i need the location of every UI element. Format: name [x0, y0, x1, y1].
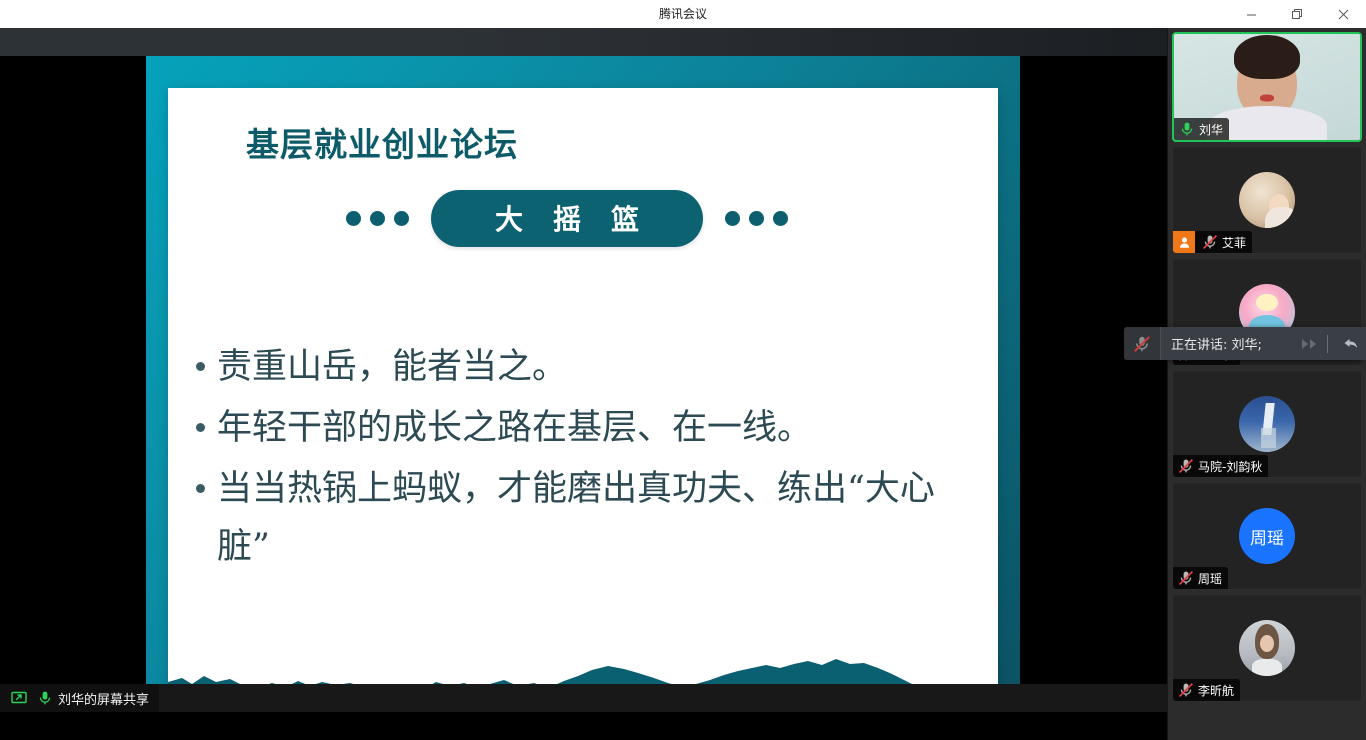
- list-item: 当当热锅上蚂蚁，才能磨出真功夫、练出“大心脏”: [196, 460, 976, 578]
- slide-heading-row: 大摇篮: [346, 188, 788, 248]
- close-button[interactable]: [1320, 0, 1366, 28]
- list-item: 责重山岳，能者当之。: [196, 338, 976, 397]
- avatar-initials: 周瑶: [1239, 508, 1295, 564]
- participant-tile-liuhua[interactable]: 刘华: [1172, 32, 1362, 142]
- mic-muted-icon: [1202, 234, 1218, 250]
- collapse-button[interactable]: [1299, 335, 1327, 353]
- participant-tile-lixinhang[interactable]: 李昕航: [1172, 594, 1362, 702]
- nameplate: 马院-刘韵秋: [1173, 455, 1268, 477]
- share-taskbar: 刘华的屏幕共享: [0, 684, 1168, 712]
- back-arrow-icon: [1342, 336, 1360, 352]
- shared-screen-stage[interactable]: 基层就业创业论坛 大摇篮: [0, 56, 1168, 712]
- slide-bullet-list: 责重山岳，能者当之。 年轻干部的成长之路在基层、在一线。 当当热锅上蚂蚁，才能磨…: [196, 338, 976, 579]
- mic-icon: [1179, 121, 1195, 137]
- minimize-button[interactable]: [1228, 0, 1274, 28]
- share-label: 刘华的屏幕共享: [58, 689, 149, 708]
- mic-muted-icon: [1178, 570, 1194, 586]
- meeting-window: 腾讯会议 基层就业创业论坛: [0, 0, 1366, 740]
- slide-title: 基层就业创业论坛: [246, 118, 518, 166]
- presentation-slide: 基层就业创业论坛 大摇篮: [146, 56, 1020, 712]
- participant-tile-mayuan-liuyunqiu[interactable]: 马院-刘韵秋: [1172, 370, 1362, 478]
- restore-button[interactable]: [1274, 0, 1320, 28]
- participant-name: 刘华: [1199, 121, 1223, 138]
- bullet-dot-icon: [196, 423, 205, 432]
- dot-icon: [725, 211, 740, 226]
- title-bar: 腾讯会议: [0, 0, 1366, 28]
- divider: [1327, 335, 1328, 353]
- speaking-toolbar[interactable]: 正在讲话: 刘华;: [1124, 327, 1366, 360]
- toolbar-strip: [0, 28, 1366, 56]
- mic-muted-icon: [1178, 682, 1194, 698]
- screen-share-status[interactable]: 刘华的屏幕共享: [0, 684, 159, 712]
- nameplate: 李昕航: [1173, 679, 1240, 701]
- window-controls: [1228, 0, 1366, 28]
- bullet-text: 当当热锅上蚂蚁，才能磨出真功夫、练出“大心脏”: [217, 460, 976, 578]
- participant-name: 艾菲: [1222, 234, 1246, 251]
- bullet-text: 年轻干部的成长之路在基层、在一线。: [217, 399, 976, 458]
- dot-icon: [370, 211, 385, 226]
- return-button[interactable]: [1336, 336, 1366, 352]
- mic-muted-icon: [1133, 335, 1151, 353]
- participant-name: 李昕航: [1198, 682, 1234, 699]
- avatar: [1239, 172, 1295, 228]
- participant-name: 周瑶: [1198, 570, 1222, 587]
- mic-icon: [37, 690, 53, 706]
- list-item: 年轻干部的成长之路在基层、在一线。: [196, 399, 976, 458]
- nameplate: 周瑶: [1173, 567, 1228, 589]
- bullet-dot-icon: [196, 362, 205, 371]
- screen-share-icon: [11, 690, 27, 706]
- speaking-label: 正在讲话: 刘华;: [1161, 334, 1299, 353]
- dot-icon: [749, 211, 764, 226]
- bullet-dot-icon: [196, 484, 205, 493]
- slide-pill-label: 大摇篮: [431, 190, 703, 247]
- nameplate: 艾菲: [1173, 231, 1252, 253]
- dot-icon: [394, 211, 409, 226]
- participant-tile-aifei[interactable]: 艾菲: [1172, 146, 1362, 254]
- slide-card: 基层就业创业论坛 大摇篮: [168, 88, 998, 712]
- chevrons-icon: [1299, 335, 1319, 353]
- left-dots-decoration: [346, 211, 409, 226]
- avatar: [1239, 620, 1295, 676]
- mic-toggle-button[interactable]: [1124, 327, 1160, 360]
- nameplate: 刘华: [1174, 118, 1229, 140]
- right-dots-decoration: [725, 211, 788, 226]
- participant-sidebar[interactable]: 刘华: [1167, 28, 1366, 740]
- participant-name: 马院-刘韵秋: [1198, 458, 1262, 475]
- participant-tile-zhouyao[interactable]: 周瑶 周瑶: [1172, 482, 1362, 590]
- dot-icon: [773, 211, 788, 226]
- dot-icon: [346, 211, 361, 226]
- mic-muted-icon: [1178, 458, 1194, 474]
- bullet-text: 责重山岳，能者当之。: [217, 338, 976, 397]
- avatar: [1239, 396, 1295, 452]
- window-title: 腾讯会议: [0, 0, 1366, 28]
- host-badge-icon: [1173, 231, 1195, 253]
